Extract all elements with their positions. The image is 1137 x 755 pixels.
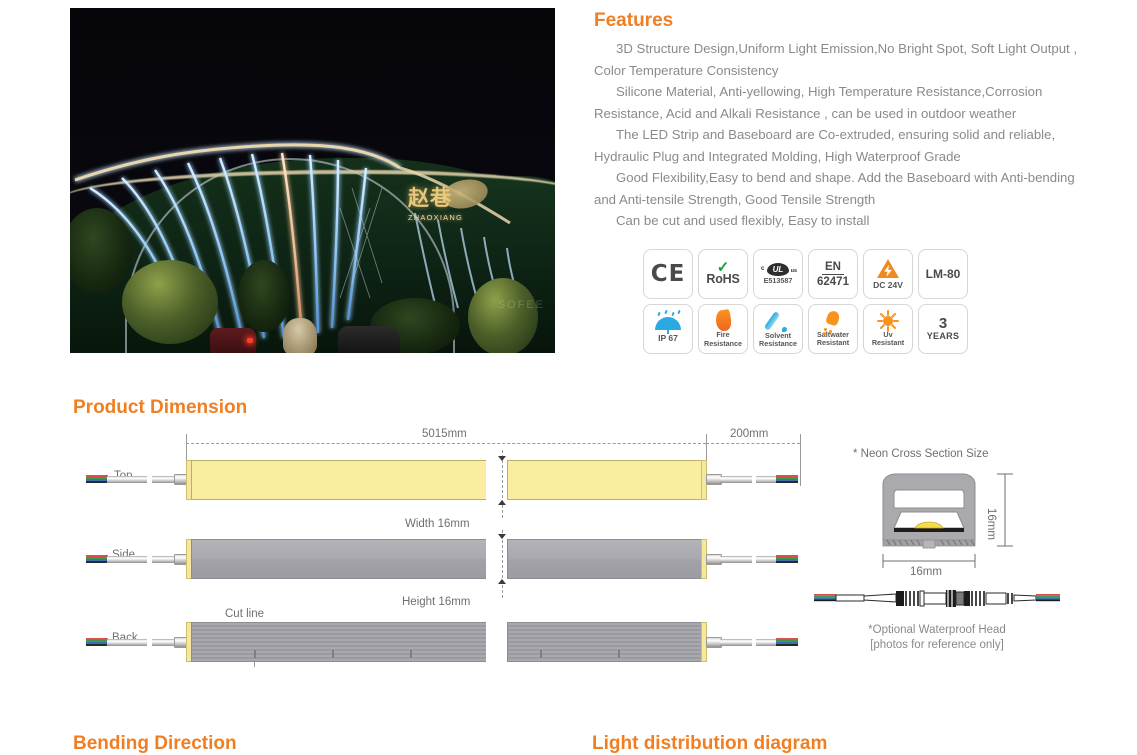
height-arrow-bottom [498,579,506,584]
cross-width-label: 16mm [910,566,942,578]
ul-us-suffix: us [791,268,797,274]
lead-wire-top-left-b [152,476,176,483]
sign-chinese-text: 赵巷 [408,188,478,209]
tail-label: 200mm [730,428,768,440]
strip-side-view-b [507,539,703,579]
en-label: EN [822,261,844,275]
certification-row-1: CE ✓ RoHS c us E513587 EN 62471 DC 24V L… [643,249,968,299]
width-arrow-bottom [498,500,506,505]
wire-tip-back-left [86,638,108,646]
badge-saltwater-resistant: Saltwater Resistant [808,304,858,354]
neon-cross-section: * Neon Cross Section Size 16mm 16mm [845,448,1085,593]
wire-tip-back-right [776,638,798,646]
parked-car [210,328,256,353]
cut-mark [410,650,412,658]
hero-photo: 赵巷 ZHAOXIANG SOFEE [70,8,555,353]
ip67-label: IP 67 [658,334,678,342]
wire-tip-side-left [86,555,108,563]
ul-c-prefix: c [761,266,764,272]
dc24v-label: DC 24V [873,281,903,289]
cut-line-label: Cut line [225,608,264,620]
salt-shaker-icon [822,311,844,331]
motorcycle [338,326,400,353]
length-label: 5015mm [422,428,467,440]
lead-wire-side-right-a [720,556,752,563]
strip-side-view-a [191,539,490,579]
height-dimension-line [502,530,503,598]
lead-wire-back-left-a [107,639,147,646]
product-dimension-title: Product Dimension [73,397,247,419]
waterproof-head-drawing [812,586,1062,612]
wire-tip-top-left [86,475,108,483]
certification-row-2: IP 67 Fire Resistance Solvent Resistance… [643,304,968,354]
lead-wire-side-right-b [756,556,778,563]
cross-section-drawing [845,466,1085,586]
warranty-years-number: 3 [939,317,947,331]
badge-uv-resistant: Uv Resistant [863,304,913,354]
waterproof-head-caption-line1: *Optional Waterproof Head [812,623,1062,638]
lm80-label: LM-80 [926,270,961,278]
fire-sub-label: Resistance [704,340,742,348]
feature-paragraph: 3D Structure Design,Uniform Light Emissi… [594,38,1084,81]
cut-mark [618,650,620,658]
feature-paragraph: Can be cut and used flexibly, Easy to in… [594,210,1084,232]
feature-paragraph: The LED Strip and Baseboard are Co-extru… [594,124,1084,167]
flame-icon [714,309,732,332]
badge-solvent-resistance: Solvent Resistance [753,304,803,354]
cut-mark [540,650,542,658]
ul-file-number: E513587 [764,277,793,285]
high-voltage-warning-icon [877,259,899,278]
feature-paragraph: Good Flexibility,Easy to bend and shape.… [594,167,1084,210]
strip-back-view-b [507,622,703,662]
lead-wire-back-left-b [152,639,176,646]
uv-sub-label: Resistant [872,339,904,347]
wire-tip-top-right [776,475,798,483]
width-arrow-top [498,456,506,461]
features-section: Features 3D Structure Design,Uniform Lig… [594,10,1084,232]
waterproof-umbrella-icon [655,315,681,330]
rohs-label: RoHS [706,272,739,286]
photo-watermark: SOFEE [498,299,545,311]
ce-mark-icon: CE [651,263,686,286]
pedestrian [283,318,317,353]
strip-top-view-b [507,460,703,500]
pipette-icon [767,310,789,332]
lead-wire-back-right-b [756,639,778,646]
bending-direction-title: Bending Direction [73,733,237,755]
badge-ce: CE [643,249,693,299]
waterproof-head-caption-line2: [photos for reference only] [812,638,1062,653]
solvent-sub-label: Resistance [759,340,797,348]
light-distribution-title: Light distribution diagram [592,733,827,755]
strip-top-view-a [191,460,490,500]
tree-shrub-2 [122,260,218,344]
check-icon: ✓ [717,263,730,272]
badge-rohs: ✓ RoHS [698,249,748,299]
height-label: Height 16mm [402,596,470,608]
product-dimension-diagram: 5015mm 200mm Top Width 16mm Side [70,420,830,670]
badge-warranty: 3 YEARS [918,304,968,354]
sun-icon [878,311,898,331]
badge-ul: c us E513587 [753,249,803,299]
strip-back-view-a [191,622,490,662]
waterproof-head-block: *Optional Waterproof Head [photos for re… [812,586,1062,653]
badge-en62471: EN 62471 [808,249,858,299]
warranty-years-word: YEARS [927,331,960,341]
cut-mark [254,650,256,658]
saltwater-sub-label: Resistant [817,339,849,347]
feature-paragraph: Silicone Material, Anti-yellowing, High … [594,81,1084,124]
lead-wire-back-right-a [720,639,752,646]
length-dimension-line [186,443,706,444]
lead-wire-top-left-a [107,476,147,483]
cut-mark [332,650,334,658]
badge-dc24v: DC 24V [863,249,913,299]
tree-shrub-3 [238,260,290,332]
lead-wire-top-right-a [720,476,752,483]
height-arrow-top [498,534,506,539]
cross-section-title: * Neon Cross Section Size [853,448,989,460]
building-sign: 赵巷 ZHAOXIANG [408,188,478,246]
certification-badges: CE ✓ RoHS c us E513587 EN 62471 DC 24V L… [643,249,968,359]
cross-height-label: 16mm [985,508,997,540]
badge-ip67: IP 67 [643,304,693,354]
lead-wire-side-left-a [107,556,147,563]
sign-english-text: ZHAOXIANG [408,213,478,222]
width-label: Width 16mm [405,518,470,530]
lead-wire-top-right-b [756,476,778,483]
tree-shrub-5 [468,278,538,353]
en-number: 62471 [817,275,849,288]
lead-wire-side-left-b [152,556,176,563]
badge-lm80: LM-80 [918,249,968,299]
tail-dimension-line [706,443,800,444]
ul-mark-icon: c us [767,263,789,276]
wire-tip-side-right [776,555,798,563]
badge-fire-resistance: Fire Resistance [698,304,748,354]
water-drops-icon [656,312,682,318]
features-title: Features [594,10,1084,32]
extension-line-right [800,434,801,486]
